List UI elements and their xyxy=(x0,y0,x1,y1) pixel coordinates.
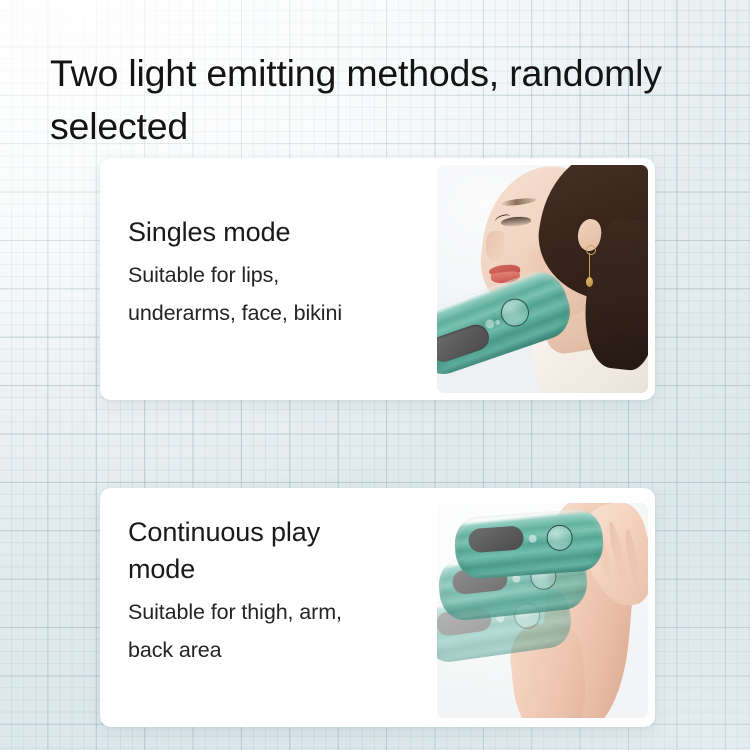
earring-hoop-icon xyxy=(586,245,596,255)
mode-card-singles-text: Singles mode Suitable for lips, underarm… xyxy=(128,214,428,332)
device-flash-window xyxy=(468,525,525,553)
earring-drop-icon xyxy=(589,253,590,279)
mode-card-continuous: Continuous play mode Suitable for thigh,… xyxy=(100,488,655,727)
page-headline: Two light emitting methods, randomly sel… xyxy=(50,47,720,153)
mode-card-singles-photo xyxy=(437,165,648,393)
mode-description: Suitable for thigh, arm, back area xyxy=(128,593,428,669)
mode-title: Singles mode xyxy=(128,214,428,251)
mode-description: Suitable for lips, underarms, face, biki… xyxy=(128,256,428,332)
earring-bead-icon xyxy=(586,277,593,287)
mode-card-singles: Singles mode Suitable for lips, underarm… xyxy=(100,158,655,400)
mode-card-continuous-text: Continuous play mode Suitable for thigh,… xyxy=(128,514,428,669)
model-nose xyxy=(486,231,504,261)
mode-title: Continuous play mode xyxy=(128,514,428,588)
marketing-page: Two light emitting methods, randomly sel… xyxy=(0,0,750,750)
ipl-device xyxy=(453,508,605,580)
mode-card-continuous-photo xyxy=(437,503,648,718)
